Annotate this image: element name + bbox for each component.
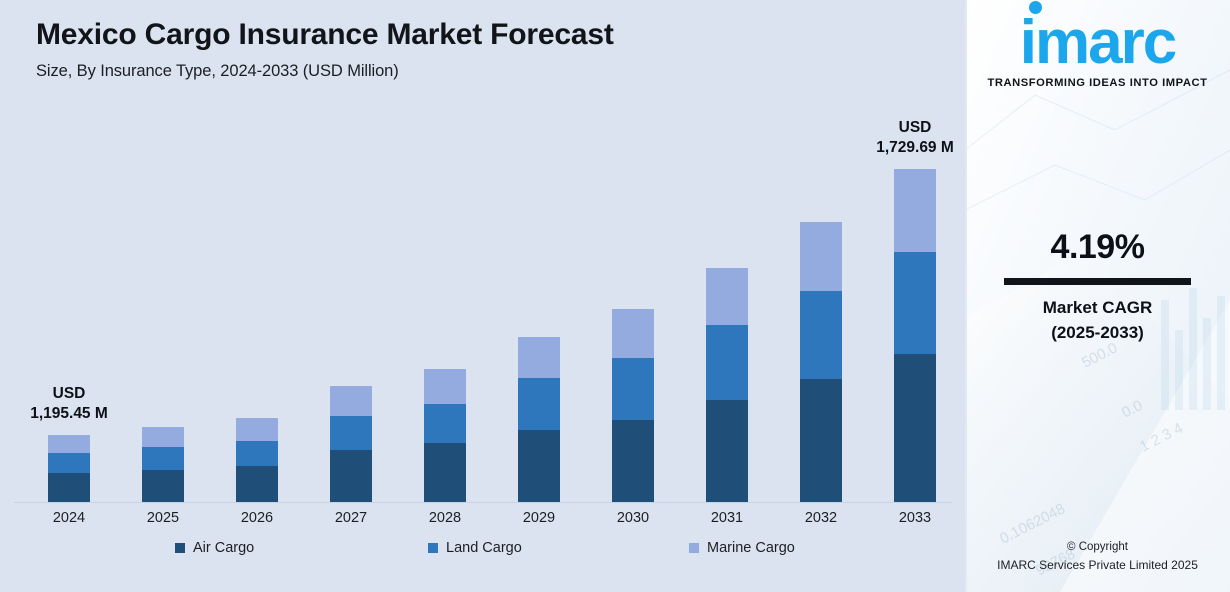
- legend-label: Air Cargo: [193, 540, 254, 556]
- bar-segment-land-cargo[interactable]: [330, 416, 372, 450]
- value-callout-2024: USD1,195.45 M: [2, 384, 136, 423]
- x-axis-line: [14, 502, 952, 503]
- x-axis-label-2026: 2026: [222, 510, 292, 526]
- legend-swatch-icon: [175, 543, 185, 553]
- bar-segment-air-cargo[interactable]: [48, 473, 90, 502]
- bar-segment-land-cargo[interactable]: [424, 404, 466, 443]
- bar-segment-air-cargo[interactable]: [612, 420, 654, 502]
- logo-dot-icon: [1029, 1, 1042, 14]
- bar-segment-marine-cargo[interactable]: [424, 369, 466, 404]
- bar-segment-marine-cargo[interactable]: [894, 169, 936, 252]
- callout-amount: 1,729.69 M: [848, 138, 982, 157]
- bar-stack: [800, 222, 842, 502]
- cagr-period: (2025-2033): [965, 321, 1230, 346]
- legend-label: Marine Cargo: [707, 540, 795, 556]
- legend-item-air-cargo[interactable]: Air Cargo: [175, 540, 254, 556]
- bar-stack: [894, 169, 936, 502]
- logo-wordmark-text: imarc: [1020, 14, 1175, 73]
- plot-area: 2024USD1,195.45 M20252026202720282029203…: [0, 0, 965, 592]
- bar-segment-land-cargo[interactable]: [236, 441, 278, 466]
- x-axis-label-2031: 2031: [692, 510, 762, 526]
- bar-segment-marine-cargo[interactable]: [612, 309, 654, 358]
- bar-segment-air-cargo[interactable]: [330, 450, 372, 502]
- legend-item-marine-cargo[interactable]: Marine Cargo: [689, 540, 795, 556]
- legend-swatch-icon: [428, 543, 438, 553]
- x-axis-label-2024: 2024: [34, 510, 104, 526]
- bar-segment-marine-cargo[interactable]: [518, 337, 560, 378]
- bar-stack: [48, 435, 90, 502]
- bar-segment-land-cargo[interactable]: [48, 453, 90, 473]
- bar-segment-air-cargo[interactable]: [894, 354, 936, 502]
- logo-tagline: TRANSFORMING IDEAS INTO IMPACT: [965, 77, 1230, 89]
- bar-segment-air-cargo[interactable]: [706, 400, 748, 502]
- bar-segment-land-cargo[interactable]: [894, 252, 936, 354]
- brand-panel: 500.0 0.0 1 2 3 4 0.1062048 92768 imarc …: [965, 0, 1230, 592]
- imarc-logo: imarc TRANSFORMING IDEAS INTO IMPACT: [965, 14, 1230, 89]
- legend-swatch-icon: [689, 543, 699, 553]
- bar-segment-air-cargo[interactable]: [236, 466, 278, 502]
- bar-stack: [142, 427, 184, 502]
- bar-segment-air-cargo[interactable]: [518, 430, 560, 502]
- legend-label: Land Cargo: [446, 540, 522, 556]
- bar-stack: [706, 268, 748, 502]
- bar-stack: [518, 337, 560, 502]
- bar-segment-marine-cargo[interactable]: [142, 427, 184, 447]
- chart-page: Mexico Cargo Insurance Market Forecast S…: [0, 0, 1230, 592]
- cagr-label: Market CAGR: [965, 296, 1230, 321]
- x-axis-label-2033: 2033: [880, 510, 950, 526]
- copyright-block: © Copyright IMARC Services Private Limit…: [965, 539, 1230, 574]
- bar-stack: [330, 386, 372, 502]
- x-axis-label-2027: 2027: [316, 510, 386, 526]
- chart-panel: Mexico Cargo Insurance Market Forecast S…: [0, 0, 965, 592]
- logo-text: imarc: [1020, 8, 1175, 77]
- bar-segment-land-cargo[interactable]: [800, 291, 842, 379]
- x-axis-label-2028: 2028: [410, 510, 480, 526]
- bar-segment-land-cargo[interactable]: [706, 325, 748, 400]
- cagr-block: 4.19% Market CAGR (2025-2033): [965, 228, 1230, 345]
- bar-segment-marine-cargo[interactable]: [236, 418, 278, 441]
- bar-segment-air-cargo[interactable]: [142, 470, 184, 502]
- callout-currency: USD: [2, 384, 136, 403]
- value-callout-2033: USD1,729.69 M: [848, 118, 982, 157]
- x-axis-label-2029: 2029: [504, 510, 574, 526]
- copyright-line-2: IMARC Services Private Limited 2025: [965, 556, 1230, 574]
- bar-segment-marine-cargo[interactable]: [48, 435, 90, 453]
- bar-segment-marine-cargo[interactable]: [330, 386, 372, 416]
- bar-stack: [612, 309, 654, 502]
- legend-item-land-cargo[interactable]: Land Cargo: [428, 540, 522, 556]
- bar-segment-land-cargo[interactable]: [518, 378, 560, 430]
- bar-segment-marine-cargo[interactable]: [800, 222, 842, 291]
- bar-segment-land-cargo[interactable]: [142, 447, 184, 470]
- bar-segment-land-cargo[interactable]: [612, 358, 654, 420]
- x-axis-label-2025: 2025: [128, 510, 198, 526]
- x-axis-label-2032: 2032: [786, 510, 856, 526]
- bar-segment-air-cargo[interactable]: [800, 379, 842, 502]
- callout-amount: 1,195.45 M: [2, 404, 136, 423]
- callout-currency: USD: [848, 118, 982, 137]
- bar-segment-marine-cargo[interactable]: [706, 268, 748, 325]
- cagr-divider-rule: [1004, 278, 1191, 285]
- bar-segment-air-cargo[interactable]: [424, 443, 466, 502]
- bar-stack: [236, 418, 278, 502]
- copyright-line-1: © Copyright: [965, 539, 1230, 556]
- bar-stack: [424, 369, 466, 502]
- cagr-value: 4.19%: [965, 228, 1230, 267]
- x-axis-label-2030: 2030: [598, 510, 668, 526]
